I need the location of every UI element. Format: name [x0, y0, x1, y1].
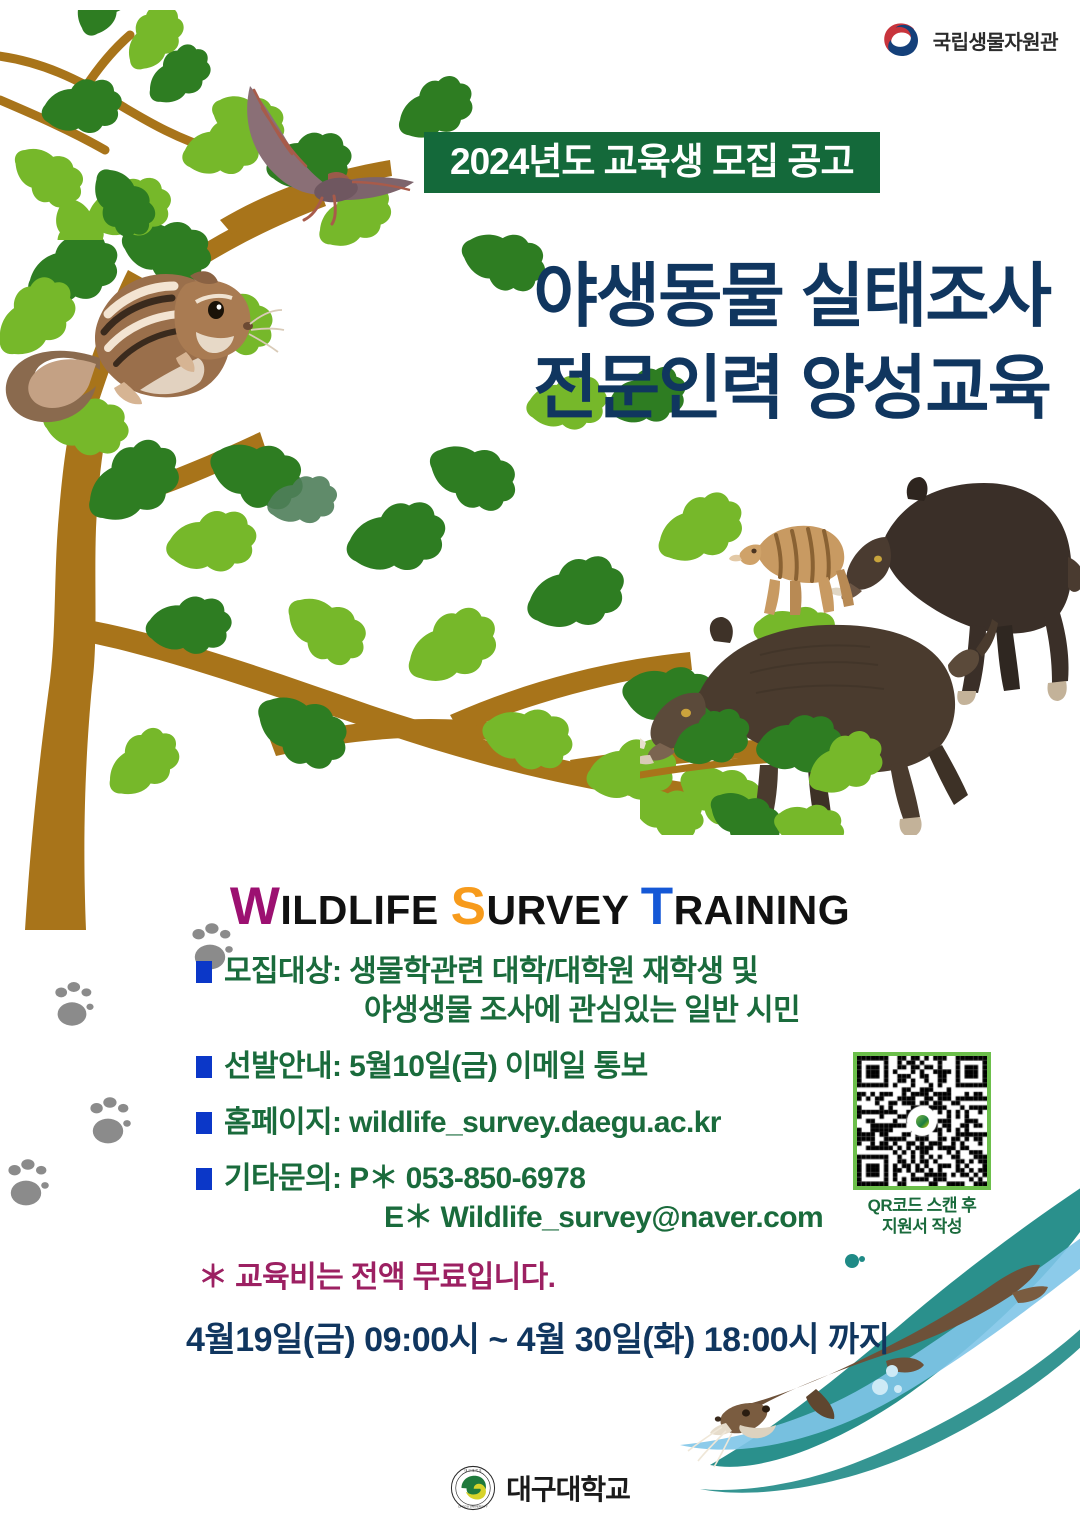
info-item-selection-text: 선발안내: 5월10일(금) 이메일 통보	[224, 1047, 648, 1086]
info-item-contact-text: 기타문의: P＊ 053-850-6978E＊ Wildlife_survey@…	[224, 1159, 823, 1237]
qr-block[interactable]: QR코드 스캔 후 지원서 작성	[848, 1052, 996, 1237]
free-tuition-note: ＊ 교육비는 전액 무료입니다.	[198, 1252, 555, 1296]
info-item-homepage-label: 홈페이지:	[224, 1106, 341, 1139]
english-subtitle-s: S	[451, 877, 487, 936]
government-logo: 국립생물자원관	[877, 18, 1058, 62]
english-subtitle-wildlife: ILDLIFE	[280, 887, 438, 933]
bullet-square-icon	[196, 1112, 212, 1134]
qr-caption: QR코드 스캔 후 지원서 작성	[848, 1196, 996, 1237]
info-item-contact-email[interactable]: E＊ Wildlife_survey@naver.com	[224, 1198, 823, 1237]
university-name: 대구대학교	[506, 1468, 630, 1508]
english-subtitle: WILDLIFE SURVEY TRAINING	[0, 876, 1080, 937]
info-item-contact-label: 기타문의:	[224, 1162, 341, 1195]
bullet-square-icon	[196, 961, 212, 983]
qr-center-logo-icon	[911, 1110, 933, 1132]
svg-text:DAEGU UNIVERSITY: DAEGU UNIVERSITY	[458, 1504, 488, 1508]
info-item-homepage[interactable]: 홈페이지: wildlife_survey.daegu.ac.kr	[196, 1103, 896, 1142]
english-subtitle-training: RAINING	[674, 887, 851, 933]
info-item-homepage-text[interactable]: 홈페이지: wildlife_survey.daegu.ac.kr	[224, 1103, 721, 1142]
bullet-square-icon	[196, 1056, 212, 1078]
application-period: 4월19일(금) 09:00시 ~ 4월 30일(화) 18:00시 까지	[186, 1312, 890, 1361]
qr-code-icon[interactable]	[853, 1052, 991, 1190]
daegu-university-seal-icon: 대 구 대 학 교 DAEGU UNIVERSITY	[450, 1465, 496, 1511]
info-item-contact: 기타문의: P＊ 053-850-6978E＊ Wildlife_survey@…	[196, 1159, 896, 1237]
svg-text:대 구 대 학 교: 대 구 대 학 교	[465, 1467, 482, 1472]
english-subtitle-w: W	[230, 877, 281, 936]
info-item-target: 모집대상: 생물학관련 대학/대학원 재학생 및야생생물 조사에 관심있는 일반…	[196, 952, 896, 1030]
info-item-target-text: 모집대상: 생물학관련 대학/대학원 재학생 및야생생물 조사에 관심있는 일반…	[224, 952, 800, 1030]
info-item-contact-phone: P＊ 053-850-6978	[341, 1162, 585, 1195]
qr-caption-line-2: 지원서 작성	[848, 1217, 996, 1238]
poster-canvas: 국립생물자원관 2024년도 교육생 모집 공고 야생동물 실태조사 전문인력 …	[0, 0, 1080, 1527]
qr-caption-line-1: QR코드 스캔 후	[848, 1196, 996, 1217]
bat-illustration	[232, 78, 422, 228]
info-list: 모집대상: 생물학관련 대학/대학원 재학생 및야생생물 조사에 관심있는 일반…	[196, 952, 896, 1254]
info-item-target-line2: 야생생물 조사에 관심있는 일반 시민	[224, 991, 800, 1030]
info-item-target-value: 생물학관련 대학/대학원 재학생 및	[341, 955, 758, 988]
info-item-homepage-url[interactable]: wildlife_survey.daegu.ac.kr	[341, 1106, 721, 1139]
info-item-target-label: 모집대상:	[224, 955, 341, 988]
info-item-selection-label: 선발안내:	[224, 1050, 341, 1083]
university-logo: 대 구 대 학 교 DAEGU UNIVERSITY 대구대학교	[0, 1465, 1080, 1511]
page-title: 야생동물 실태조사 전문인력 양성교육	[0, 250, 1050, 435]
announcement-banner: 2024년도 교육생 모집 공고	[424, 132, 880, 193]
taegeuk-icon	[877, 18, 921, 62]
english-subtitle-survey: URVEY	[487, 887, 629, 933]
government-logo-name: 국립생물자원관	[933, 26, 1058, 55]
english-subtitle-t: T	[641, 877, 674, 936]
page-title-line-2: 전문인력 양성교육	[0, 342, 1050, 434]
oak-branch-illustration	[0, 10, 260, 240]
page-title-line-1: 야생동물 실태조사	[0, 250, 1050, 342]
info-item-selection: 선발안내: 5월10일(금) 이메일 통보	[196, 1047, 896, 1086]
info-item-selection-value: 5월10일(금) 이메일 통보	[341, 1050, 647, 1083]
wild-boar-illustration	[640, 465, 1080, 835]
bullet-square-icon	[196, 1168, 212, 1190]
announcement-banner-text: 2024년도 교육생 모집 공고	[450, 143, 854, 180]
